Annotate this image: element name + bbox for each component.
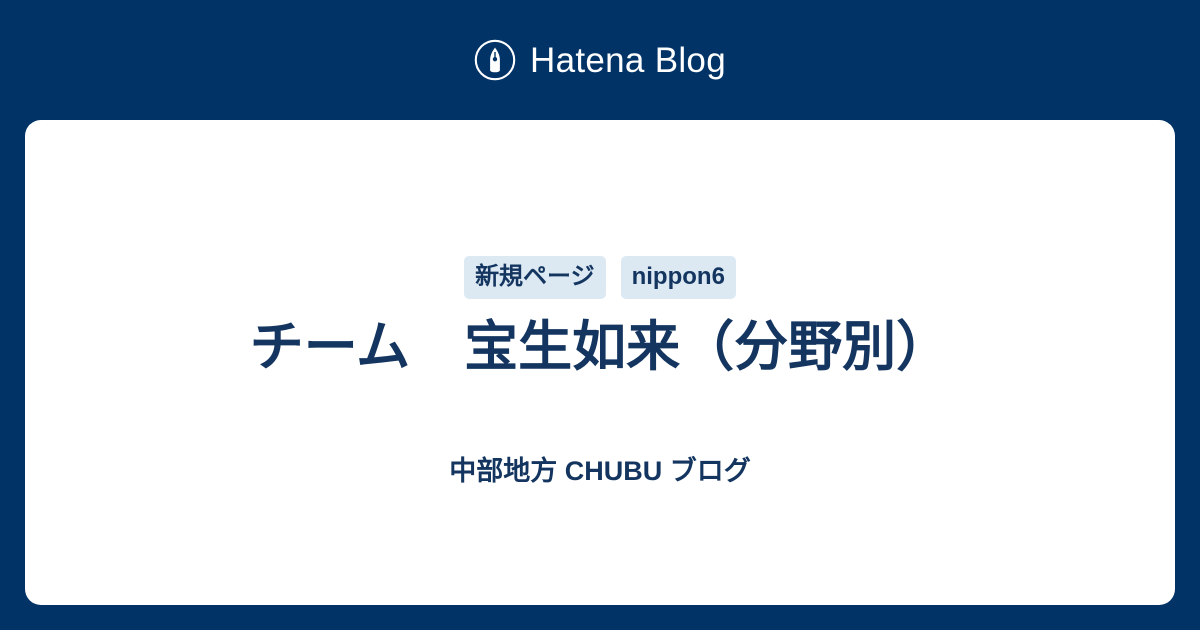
entry-tag-list: 新規ページ nippon6	[464, 256, 736, 299]
entry-card-inner: 新規ページ nippon6 チーム 宝生如来（分野別） 中部地方 CHUBU ブ…	[25, 120, 1175, 485]
entry-title: チーム 宝生如来（分野別）	[250, 314, 950, 382]
hatena-blog-service-name: Hatena Blog	[530, 43, 726, 78]
site-header: Hatena Blog	[0, 0, 1200, 120]
blog-name[interactable]: 中部地方 CHUBU ブログ	[449, 458, 751, 485]
entry-tag-new-page[interactable]: 新規ページ	[464, 256, 606, 299]
ogp-card-page: Hatena Blog 新規ページ nippon6 チーム 宝生如来（分野別） …	[0, 0, 1200, 630]
hatena-blog-brand[interactable]: Hatena Blog	[474, 39, 726, 81]
entry-card: 新規ページ nippon6 チーム 宝生如来（分野別） 中部地方 CHUBU ブ…	[25, 120, 1175, 605]
entry-tag-nippon6[interactable]: nippon6	[621, 256, 736, 299]
hatena-pen-nib-icon	[474, 39, 516, 81]
